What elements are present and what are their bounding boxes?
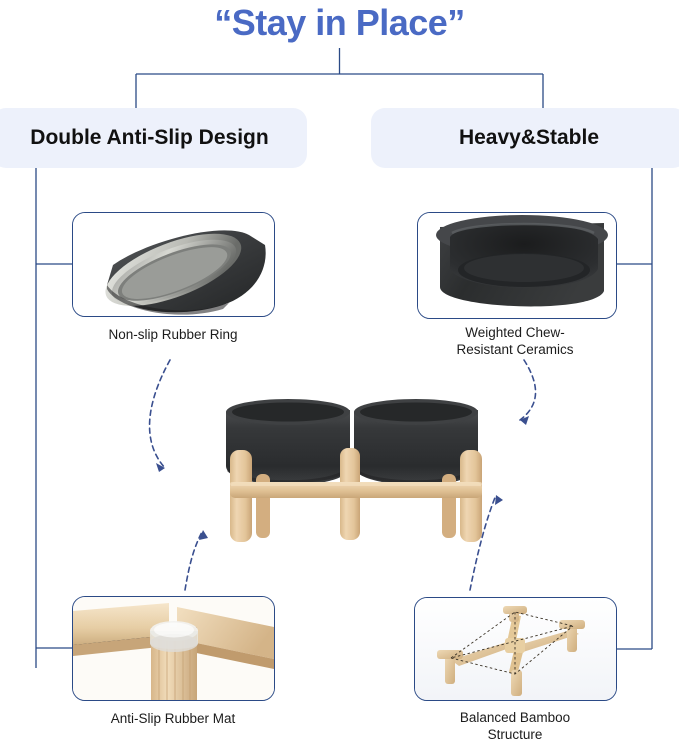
branch-pill-label: Heavy&Stable	[459, 126, 599, 150]
hero-product-image	[168, 390, 528, 550]
balanced-bamboo-structure-image	[415, 598, 616, 700]
branch-pill-heavy-and-stable[interactable]: Heavy&Stable	[371, 108, 679, 168]
feature-caption-anti-slip-rubber-mat: Anti-Slip Rubber Mat	[63, 710, 283, 727]
branch-pill-double-anti-slip-design[interactable]: Double Anti-Slip Design	[0, 108, 307, 168]
feature-card-non-slip-rubber-ring[interactable]	[72, 212, 275, 317]
feature-caption-non-slip-rubber-ring: Non-slip Rubber Ring	[63, 326, 283, 343]
feature-caption-balanced-bamboo-structure: Balanced Bamboo Structure	[405, 709, 625, 743]
weighted-chew-resistant-ceramics-image	[418, 213, 616, 318]
product-infographic: “Stay in Place”	[0, 0, 679, 743]
caption-line-2: Resistant Ceramics	[405, 341, 625, 358]
caption-line-1: Weighted Chew-	[405, 324, 625, 341]
caption-line-2: Structure	[405, 726, 625, 743]
arrowhead-top-left	[156, 463, 165, 472]
feature-card-balanced-bamboo-structure[interactable]	[414, 597, 617, 701]
page-title: “Stay in Place”	[0, 0, 679, 46]
anti-slip-rubber-mat-image	[73, 597, 274, 700]
arrow-path-top-left	[150, 360, 170, 468]
feature-card-weighted-chew-resistant-ceramics[interactable]	[417, 212, 617, 319]
bowl-right	[354, 399, 478, 485]
feature-card-anti-slip-rubber-mat[interactable]	[72, 596, 275, 701]
non-slip-rubber-ring-image	[73, 213, 274, 316]
branch-pill-label: Double Anti-Slip Design	[30, 126, 268, 150]
feature-caption-weighted-chew-resistant-ceramics: Weighted Chew- Resistant Ceramics	[405, 324, 625, 358]
caption-line-1: Balanced Bamboo	[405, 709, 625, 726]
